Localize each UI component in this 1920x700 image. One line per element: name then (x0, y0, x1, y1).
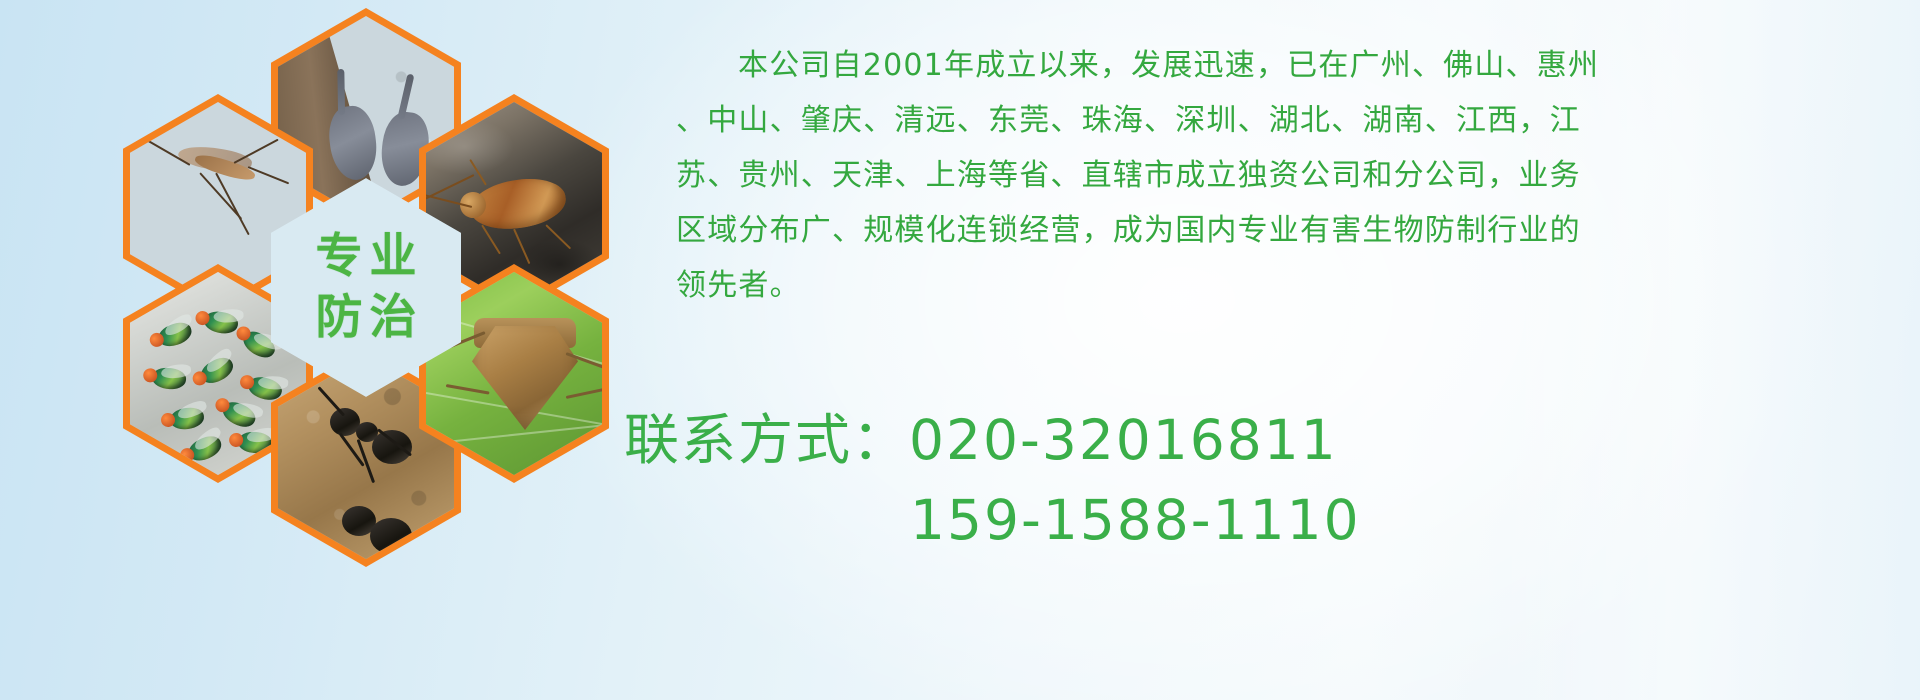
description-line-1: 本公司自2001年成立以来，发展迅速，已在广州、佛山、惠州 (676, 38, 1888, 93)
description-line-4: 区域分布广、规模化连锁经营，成为国内专业有害生物防制行业的 (676, 203, 1888, 258)
promo-banner: 专业 防治 本公司自2001年成立以来，发展迅速，已在广州、佛山、惠州 、中山、… (0, 0, 1920, 700)
logo-line-1: 专业 (309, 227, 424, 287)
description-line-5: 领先者。 (676, 258, 1888, 313)
description-line-3: 苏、贵州、天津、上海等省、直辖市成立独资公司和分公司，业务 (676, 148, 1888, 203)
contact-block: 联系方式：020-32016811 159-1588-1110 (624, 400, 1884, 560)
description-line-2: 、中山、肇庆、清远、东莞、珠海、深圳、湖北、湖南、江西，江 (676, 93, 1888, 148)
logo-line-2: 防治 (309, 288, 424, 348)
contact-phone-primary[interactable]: 联系方式：020-32016811 (624, 400, 1884, 480)
contact-phone-secondary[interactable]: 159-1588-1110 (624, 480, 1884, 560)
hexagon-photo-collage: 专业 防治 (86, 0, 586, 588)
company-description: 本公司自2001年成立以来，发展迅速，已在广州、佛山、惠州 、中山、肇庆、清远、… (676, 38, 1888, 313)
